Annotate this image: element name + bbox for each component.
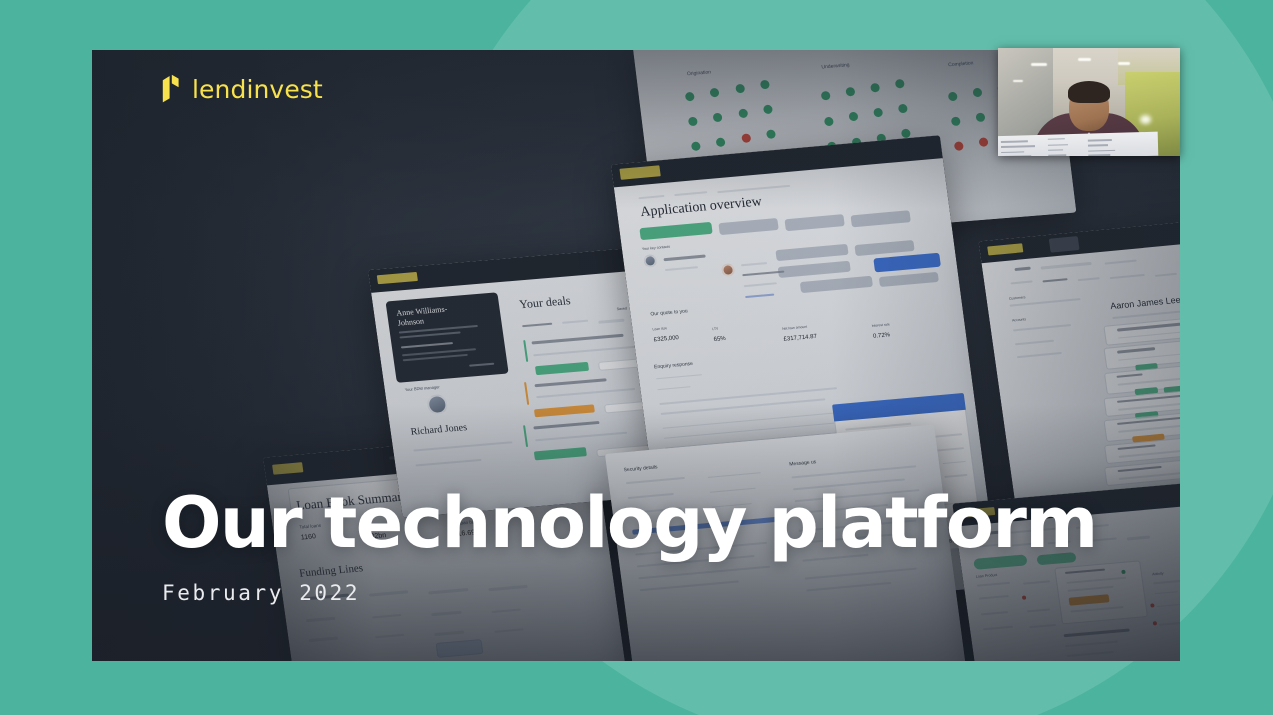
mock-title: Aaron James Lee bbox=[1110, 294, 1180, 311]
lendinvest-wordmark: lendinvest bbox=[192, 77, 323, 102]
lendinvest-logo: lendinvest bbox=[162, 74, 323, 104]
cluster-label: Underwriting bbox=[821, 62, 850, 70]
avatar bbox=[426, 394, 449, 415]
presenter-video-overlay[interactable] bbox=[998, 48, 1180, 156]
mock-section-title: Our quote to you bbox=[650, 308, 688, 317]
cluster-label: Completion bbox=[948, 61, 974, 69]
slide-text-block: Our technology platform February 2022 bbox=[162, 488, 1097, 605]
mock-section-title: Enquiry response bbox=[654, 361, 694, 370]
ceiling-light bbox=[1078, 58, 1091, 61]
cluster-label: Origination bbox=[687, 69, 712, 77]
mock-profile-panel: Anne Williams- Johnson bbox=[386, 292, 509, 383]
ceiling-light bbox=[1031, 63, 1047, 66]
video-foreground-paper bbox=[998, 132, 1158, 156]
lendinvest-mark-icon bbox=[162, 74, 181, 104]
ceiling-light bbox=[1140, 115, 1151, 124]
mock-title: Your deals bbox=[518, 293, 571, 312]
presenter-hair bbox=[1068, 81, 1110, 103]
mock-adviser-name: Richard Jones bbox=[410, 422, 468, 438]
mock-screen-case-checklist: Customers Accounts Aaron James Lee bbox=[978, 211, 1180, 513]
mock-status-badge bbox=[639, 222, 713, 240]
slide-title: Our technology platform bbox=[162, 488, 1097, 559]
mock-title: Application overview bbox=[639, 195, 762, 222]
mock-primary-action bbox=[873, 253, 941, 272]
ceiling-light bbox=[1118, 62, 1130, 65]
presentation-stage: Origination Underwriting Completion bbox=[0, 0, 1273, 715]
slide-date: February 2022 bbox=[162, 581, 1097, 605]
